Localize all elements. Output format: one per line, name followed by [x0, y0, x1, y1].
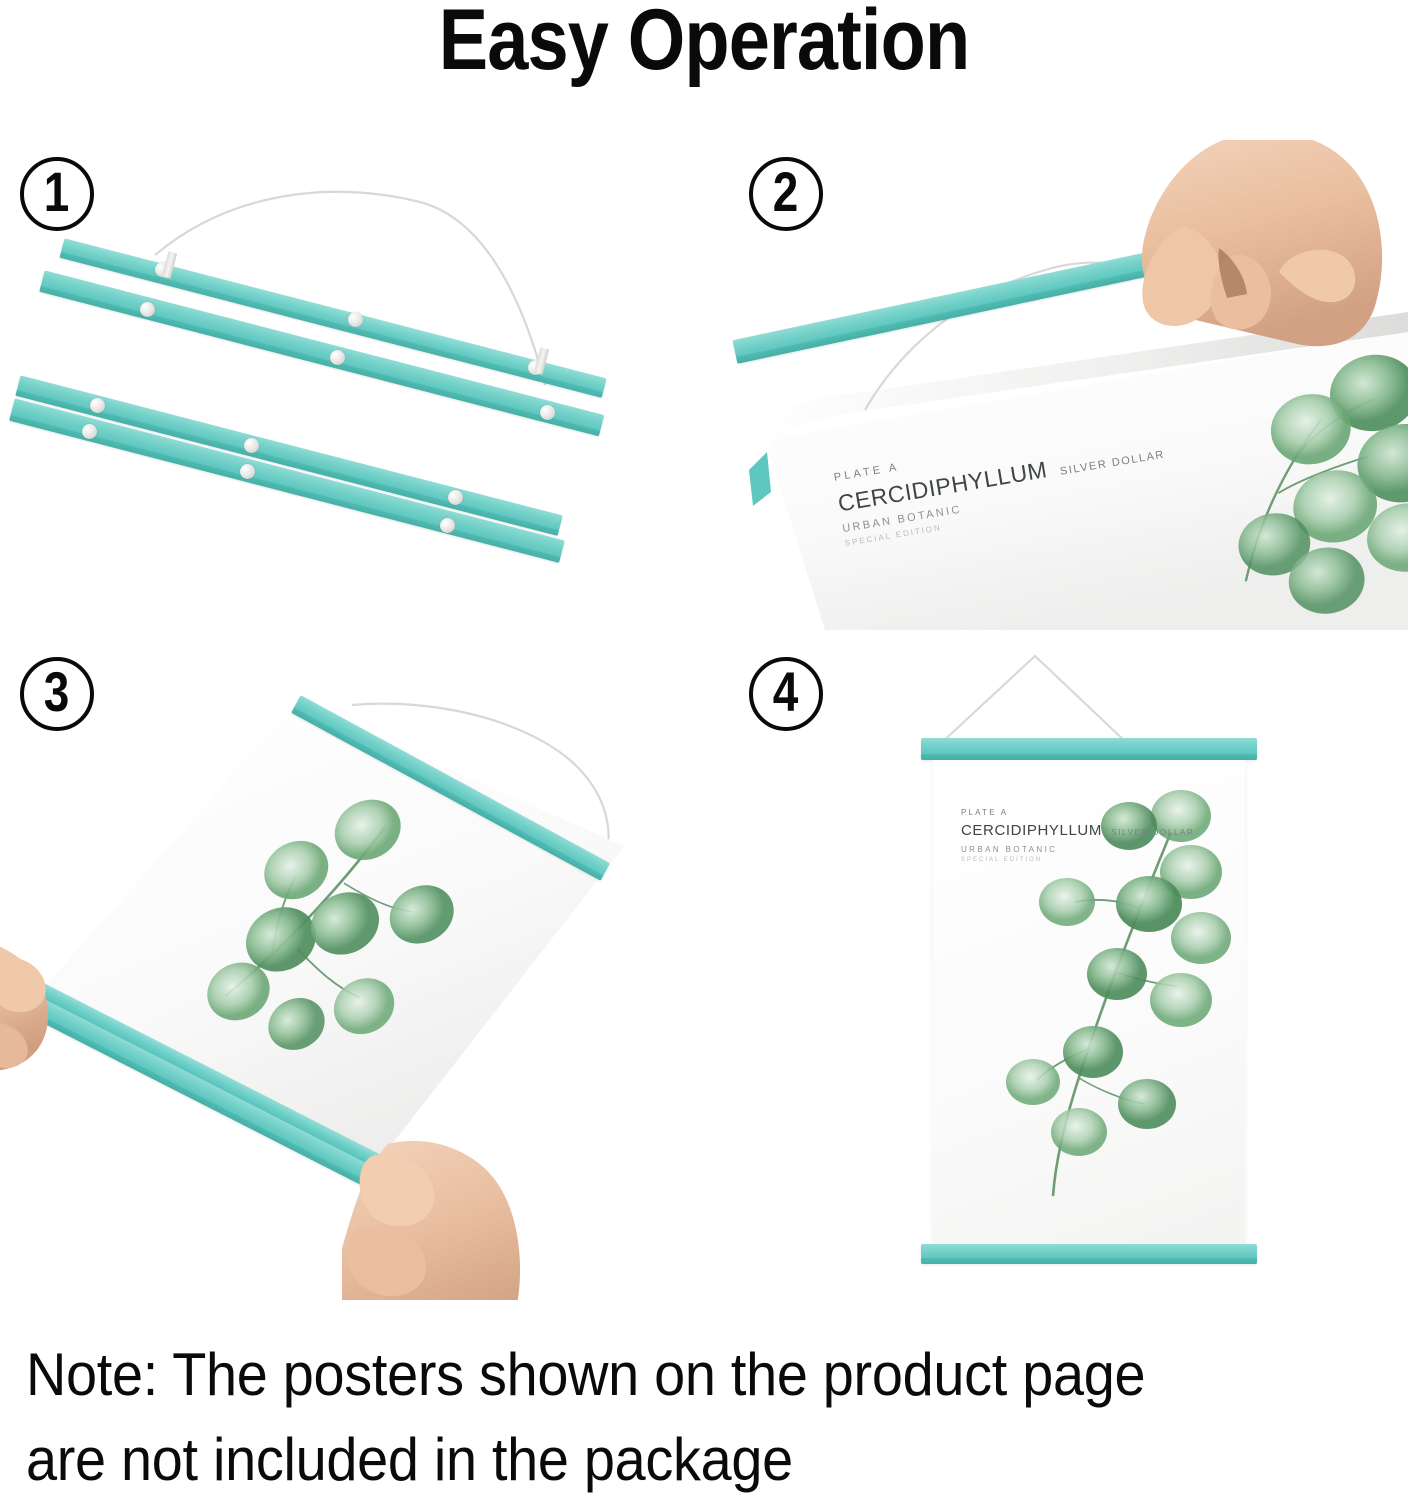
magnet-disc-icon	[348, 312, 363, 327]
magnet-disc-icon	[540, 405, 555, 420]
magnet-disc-icon	[82, 424, 97, 439]
step-number: 4	[773, 664, 799, 720]
magnet-disc-icon	[244, 438, 259, 453]
magnet-disc-icon	[240, 464, 255, 479]
step-number: 3	[44, 664, 70, 720]
page-title: Easy Operation	[99, 0, 1310, 87]
step-4-illustration: PLATE A CERCIDIPHYLLUM SILVER DOLLAR URB…	[705, 640, 1408, 1300]
step-number: 1	[44, 164, 70, 220]
step-number: 2	[773, 164, 799, 220]
poster-edition: SPECIAL EDITION	[961, 857, 1194, 865]
note-text: Note: The posters shown on the product p…	[26, 1332, 1287, 1502]
hand-icon-right	[342, 1140, 572, 1300]
hand-icon	[1083, 140, 1408, 420]
step-badge-3: 3	[20, 657, 94, 731]
poster-plate: PLATE A	[961, 808, 1194, 818]
magnet-disc-icon	[330, 350, 345, 365]
magnet-disc-icon	[448, 490, 463, 505]
magnet-disc-icon	[140, 302, 155, 317]
poster-title: CERCIDIPHYLLUM	[961, 822, 1102, 839]
step-1-illustration	[0, 140, 700, 630]
step-badge-4: 4	[749, 657, 823, 731]
magnet-disc-icon	[90, 398, 105, 413]
step-badge-2: 2	[749, 157, 823, 231]
note-line-2: are not included in the package	[26, 1417, 1287, 1502]
step-badge-1: 1	[20, 157, 94, 231]
frame-rail-top	[921, 738, 1257, 760]
step-3-illustration: PLATE A CERCIDIPHYLLUM SILVER DOLLAR URB…	[0, 640, 700, 1300]
frame-rail-bottom	[921, 1244, 1257, 1264]
hand-icon-left	[0, 930, 134, 1130]
magnet-disc-icon	[440, 518, 455, 533]
poster-variant: SILVER DOLLAR	[1111, 828, 1194, 837]
note-line-1: Note: The posters shown on the product p…	[26, 1332, 1287, 1417]
poster-brand: URBAN BOTANIC	[961, 845, 1194, 855]
poster-caption: PLATE A CERCIDIPHYLLUM SILVER DOLLAR URB…	[961, 808, 1194, 865]
